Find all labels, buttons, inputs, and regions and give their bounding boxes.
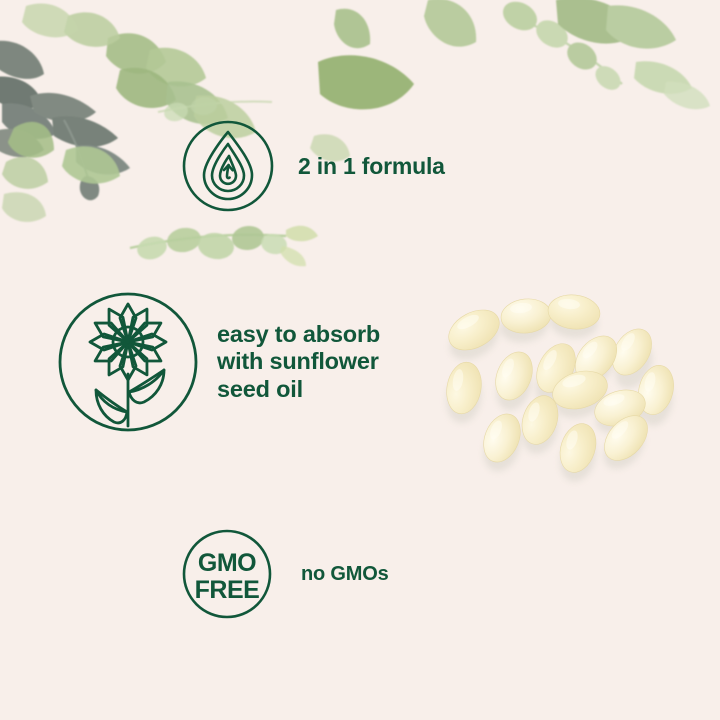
feature-label-absorb: easy to absorb with sunflower seed oil [217, 321, 380, 404]
softgel-capsule-cluster [428, 262, 696, 502]
feature-row-gmo: GMO FREE no GMOs [181, 528, 389, 620]
gmo-badge-line-2: FREE [195, 576, 260, 604]
feature-row-absorb: easy to absorb with sunflower seed oil [56, 286, 380, 438]
sunflower-icon [56, 286, 200, 438]
water-droplet-spiral-icon [180, 118, 276, 214]
capsule [489, 346, 539, 405]
infographic-canvas: 2 in 1 formula [0, 0, 720, 720]
gmo-badge-line-1: GMO [198, 549, 256, 577]
feature-label-formula: 2 in 1 formula [298, 153, 445, 180]
eucalyptus-sprig-right [498, 0, 710, 109]
feature-row-formula: 2 in 1 formula [180, 118, 445, 214]
eucalyptus-sprig-left [130, 224, 318, 266]
leaf-cluster-dark [0, 41, 130, 201]
feature-label-gmo: no GMOs [301, 562, 389, 586]
gmo-free-badge-icon: GMO FREE [181, 528, 273, 620]
